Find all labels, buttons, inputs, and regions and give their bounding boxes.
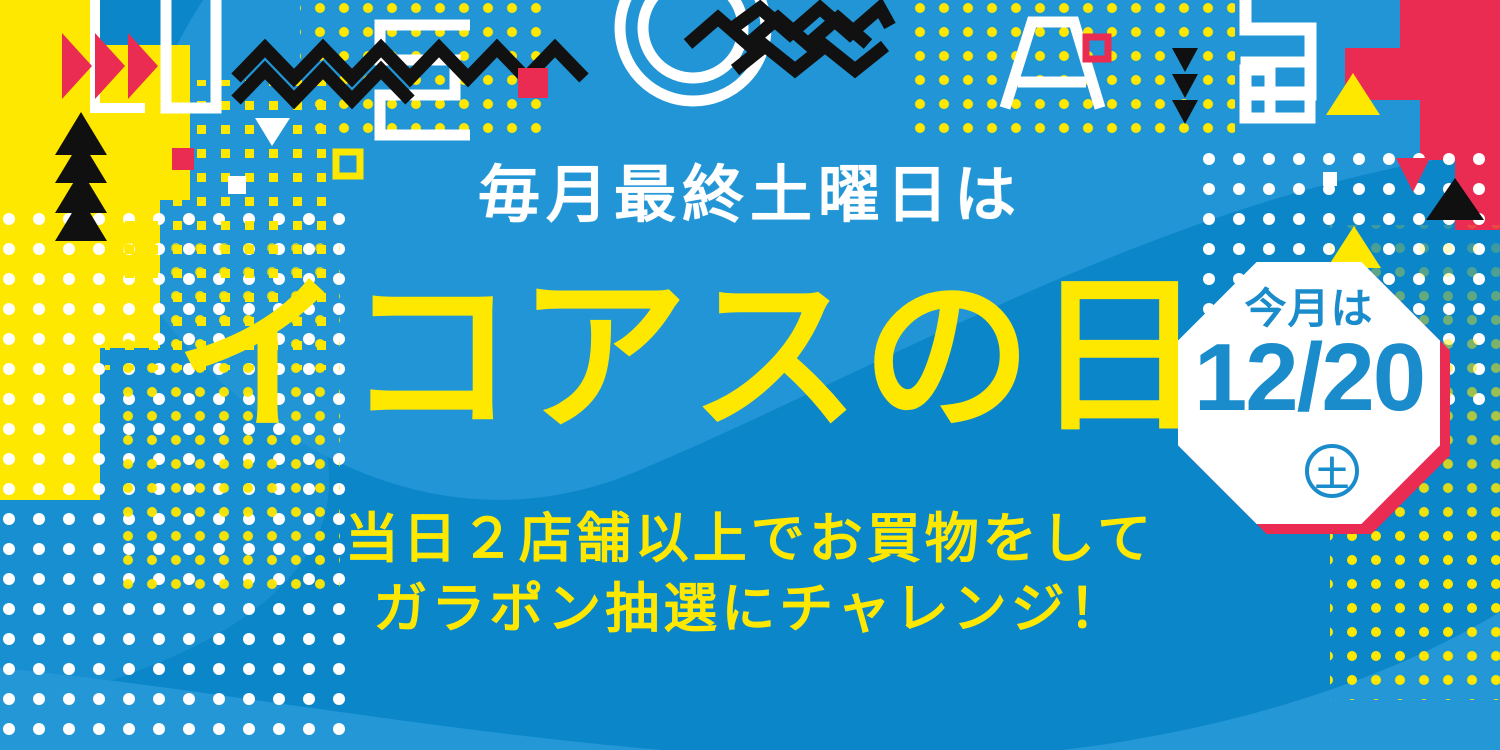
white-square-1 <box>228 176 246 194</box>
white-square-2 <box>1323 172 1337 186</box>
pink-square-1 <box>172 148 194 170</box>
badge-day-of-week-text: 土 <box>1305 444 1359 498</box>
pink-square-2 <box>518 68 548 98</box>
badge-day-of-week: 土 <box>1178 444 1440 498</box>
badge-content: 今月は 12/20 土 <box>1178 262 1440 524</box>
badge-date: 12/20 <box>1178 330 1440 426</box>
date-badge: 今月は 12/20 土 <box>1178 262 1440 524</box>
yellow-halftone-left <box>110 230 340 595</box>
pink-step-block-2 <box>1430 0 1500 70</box>
campaign-banner: 毎月最終土曜日は イコアスの日 当日２店舗以上でお買物をして ガラポン抽選にチャ… <box>0 0 1500 750</box>
